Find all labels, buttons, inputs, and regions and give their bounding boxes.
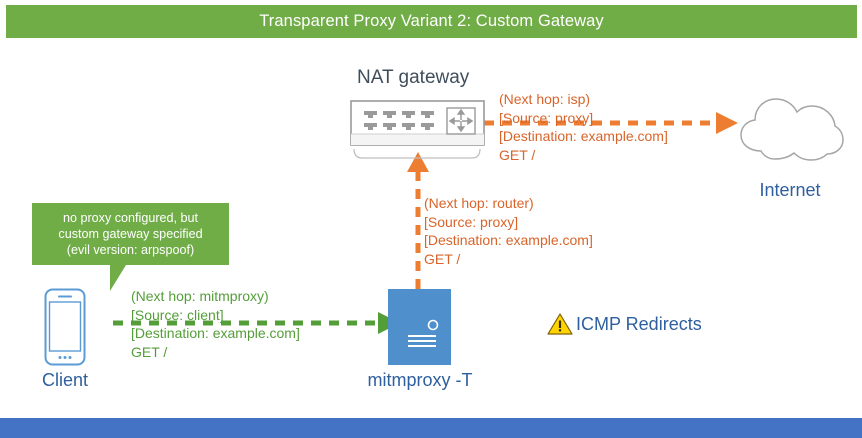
document-icon: [388, 289, 451, 365]
cloud-icon: [735, 92, 845, 164]
page-title: Transparent Proxy Variant 2: Custom Gate…: [6, 5, 857, 38]
icmp-redirects-warning: ICMP Redirects: [547, 310, 702, 338]
router-icon: [350, 100, 485, 152]
title-banner: Transparent Proxy Variant 2: Custom Gate…: [6, 5, 857, 38]
callout-box: no proxy configured, but custom gateway …: [32, 203, 229, 265]
slide-canvas: Transparent Proxy Variant 2: Custom Gate…: [0, 0, 862, 438]
packet-label-client-to-proxy: (Next hop: mitmproxy) [Source: client] […: [131, 287, 300, 361]
router-direction-icon: [447, 108, 475, 134]
packet-label-proxy-to-router: (Next hop: router) [Source: proxy] [Dest…: [424, 194, 593, 268]
nat-gateway-label: NAT gateway: [357, 67, 469, 89]
callout-tail: [110, 265, 126, 291]
packet-label-router-to-isp: (Next hop: isp) [Source: proxy] [Destina…: [499, 90, 668, 164]
footer-bar: [0, 418, 862, 438]
internet-label: Internet: [735, 180, 845, 201]
mitmproxy-label: mitmproxy -T: [330, 370, 510, 391]
router-base-shadow: [352, 148, 482, 160]
client-label: Client: [32, 370, 98, 391]
icmp-redirects-label: ICMP Redirects: [576, 314, 702, 335]
warning-triangle-icon: [547, 312, 573, 336]
smartphone-icon: [44, 288, 86, 366]
callout-text: no proxy configured, but custom gateway …: [32, 210, 229, 258]
